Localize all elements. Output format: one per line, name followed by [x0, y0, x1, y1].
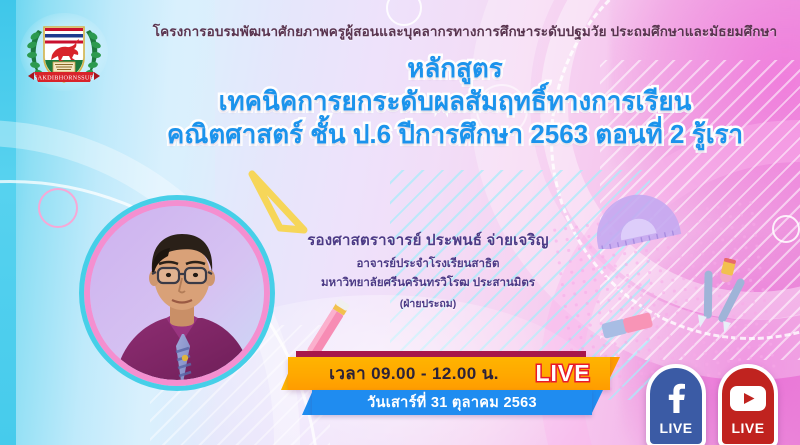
youtube-icon	[729, 383, 767, 418]
facebook-icon	[663, 383, 689, 418]
program-header-text: โครงการอบรมพัฒนาศักยภาพครูผู้สอนและบุคลา…	[150, 20, 780, 42]
decor-pink-circle-outline	[38, 188, 78, 228]
live-word-label: LIVE	[524, 360, 610, 387]
time-banner: เวลา 09.00 - 12.00 น. LIVE	[288, 357, 610, 390]
speaker-info: รองศาสตราจารย์ ประพนธ์ จ่ายเจริญ อาจารย์…	[268, 228, 588, 312]
speaker-affiliation-line-1: อาจารย์ประจำโรงเรียนสาธิต	[268, 255, 588, 273]
title-line-3: คณิตศาสตร์ ชั้น ป.6 ปีการศึกษา 2563 ตอนท…	[110, 120, 800, 149]
compass-icon	[686, 258, 758, 341]
facebook-live-label: LIVE	[659, 420, 692, 436]
eraser-icon	[598, 308, 656, 347]
facebook-live-badge[interactable]: LIVE	[646, 364, 706, 445]
title-line-1: หลักสูตร	[110, 54, 800, 83]
youtube-live-badge[interactable]: LIVE	[718, 364, 778, 445]
crest-ribbon-text: SAKDIBHORNSSUB	[34, 74, 94, 81]
speaker-portrait	[79, 195, 275, 391]
speaker-department: (ฝ่ายประถม)	[268, 295, 588, 312]
date-banner: วันเสาร์ที่ 31 ตุลาคม 2563	[312, 390, 592, 415]
protractor-icon	[588, 183, 684, 254]
speaker-name: รองศาสตราจารย์ ประพนธ์ จ่ายเจริญ	[268, 228, 588, 252]
decor-white-circle-right	[772, 215, 800, 243]
school-crest-icon: SAKDIBHORNSSUB	[18, 12, 110, 92]
poster-canvas: SAKDIBHORNSSUB โครงการอบรมพัฒนาศักยภาพคร…	[0, 0, 800, 445]
portrait-outer-ring	[79, 195, 275, 391]
youtube-live-label: LIVE	[731, 420, 764, 436]
title-block: หลักสูตร เทคนิคการยกระดับผลสัมฤทธิ์ทางกา…	[110, 54, 800, 149]
title-line-2: เทคนิคการยกระดับผลสัมฤทธิ์ทางการเรียน	[110, 87, 800, 116]
date-text: วันเสาร์ที่ 31 ตุลาคม 2563	[367, 391, 537, 414]
time-text: เวลา 09.00 - 12.00 น.	[288, 360, 524, 387]
speaker-affiliation-line-2: มหาวิทยาลัยศรีนครินทรวิโรฒ ประสานมิตร	[268, 274, 588, 292]
